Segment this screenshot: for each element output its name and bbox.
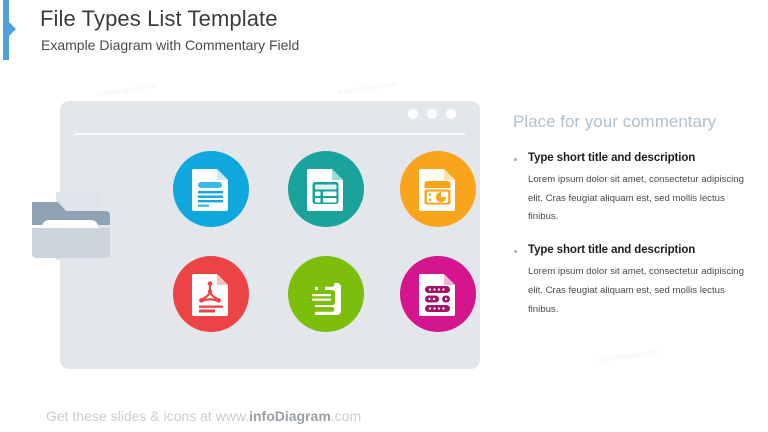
watermark: © infoDiagram.com bbox=[597, 349, 657, 365]
commentary-block-1[interactable]: Type short title and description Lorem i… bbox=[513, 152, 753, 227]
commentary-block-2[interactable]: Type short title and description Lorem i… bbox=[513, 244, 753, 319]
file-type-item-pdf[interactable] bbox=[173, 256, 249, 332]
footer-prefix: Get these slides & icons at www. bbox=[46, 408, 249, 424]
archive-file-icon bbox=[288, 256, 364, 332]
title-accent-bar bbox=[3, 0, 9, 60]
file-type-item-database[interactable] bbox=[400, 256, 476, 332]
page-title: File Types List Template bbox=[40, 6, 278, 32]
document-file-icon bbox=[173, 151, 249, 227]
file-type-item-presentation[interactable] bbox=[400, 151, 476, 227]
spreadsheet-file-icon bbox=[288, 151, 364, 227]
commentary-heading: Place for your commentary bbox=[513, 112, 753, 132]
bullet-dot-icon bbox=[514, 158, 517, 161]
watermark: © infoDiagram.com bbox=[95, 83, 155, 99]
commentary-panel: Place for your commentary Type short tit… bbox=[513, 112, 753, 336]
commentary-block-body: Lorem ipsum dolor sit amet, consectetur … bbox=[528, 171, 753, 227]
presentation-file-icon bbox=[400, 151, 476, 227]
commentary-block-body: Lorem ipsum dolor sit amet, consectetur … bbox=[528, 263, 753, 319]
footer-credit: Get these slides & icons at www.infoDiag… bbox=[46, 408, 361, 424]
slide-canvas: File Types List Template Example Diagram… bbox=[0, 0, 768, 432]
page-subtitle: Example Diagram with Commentary Field bbox=[41, 37, 299, 53]
footer-brand: infoDiagram bbox=[249, 408, 331, 424]
file-type-item-document[interactable] bbox=[173, 151, 249, 227]
commentary-block-title: Type short title and description bbox=[528, 244, 753, 256]
file-type-item-archive[interactable] bbox=[288, 256, 364, 332]
file-type-icon-grid bbox=[60, 101, 480, 369]
file-type-item-spreadsheet[interactable] bbox=[288, 151, 364, 227]
watermark: © infoDiagram.com bbox=[337, 81, 397, 97]
footer-suffix: .com bbox=[331, 408, 361, 424]
pdf-file-icon bbox=[173, 256, 249, 332]
database-file-icon bbox=[400, 256, 476, 332]
bullet-dot-icon bbox=[514, 250, 517, 253]
commentary-block-title: Type short title and description bbox=[528, 152, 753, 164]
